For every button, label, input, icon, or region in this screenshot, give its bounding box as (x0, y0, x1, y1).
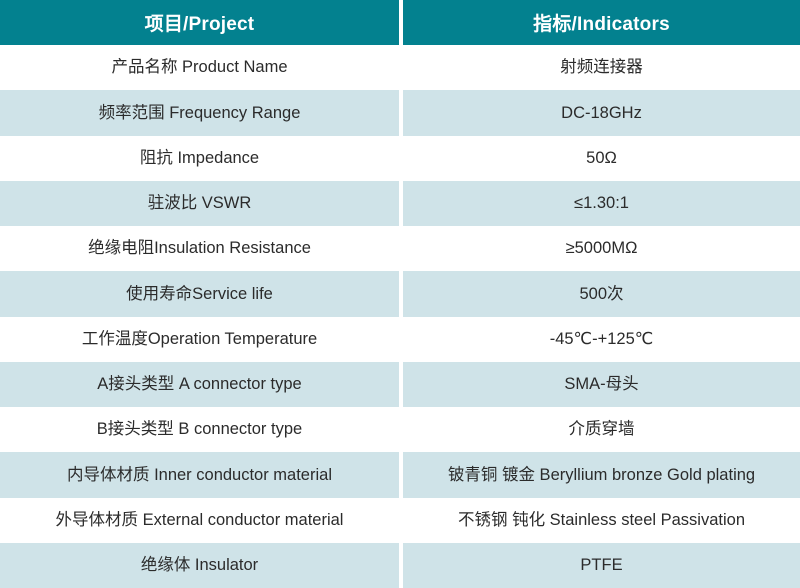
table-row: 工作温度Operation Temperature -45℃-+125℃ (0, 317, 800, 362)
table-row: 内导体材质 Inner conductor material 铍青铜 镀金 Be… (0, 452, 800, 497)
cell-project: 外导体材质 External conductor material (0, 498, 399, 543)
table-row: 外导体材质 External conductor material 不锈钢 钝化… (0, 498, 800, 543)
table-row: 阻抗 Impedance 50Ω (0, 136, 800, 181)
cell-indicator: 铍青铜 镀金 Beryllium bronze Gold plating (403, 452, 800, 497)
cell-project: 使用寿命Service life (0, 271, 399, 316)
cell-indicator: ≤1.30:1 (403, 181, 800, 226)
column-header-project: 项目/Project (0, 0, 399, 45)
table-row: 频率范围 Frequency Range DC-18GHz (0, 90, 800, 135)
cell-project: 阻抗 Impedance (0, 136, 399, 181)
table-body: 产品名称 Product Name 射频连接器 频率范围 Frequency R… (0, 45, 800, 588)
table-row: 绝缘体 Insulator PTFE (0, 543, 800, 588)
cell-project: A接头类型 A connector type (0, 362, 399, 407)
cell-indicator: SMA-母头 (403, 362, 800, 407)
cell-project: 驻波比 VSWR (0, 181, 399, 226)
cell-project: 绝缘体 Insulator (0, 543, 399, 588)
cell-indicator: 射频连接器 (403, 45, 800, 90)
cell-indicator: PTFE (403, 543, 800, 588)
table-header-row: 项目/Project 指标/Indicators (0, 0, 800, 45)
cell-indicator: 50Ω (403, 136, 800, 181)
table-row: 绝缘电阻Insulation Resistance ≥5000MΩ (0, 226, 800, 271)
table-row: 驻波比 VSWR ≤1.30:1 (0, 181, 800, 226)
table-row: A接头类型 A connector type SMA-母头 (0, 362, 800, 407)
cell-project: 工作温度Operation Temperature (0, 317, 399, 362)
cell-project: 频率范围 Frequency Range (0, 90, 399, 135)
cell-project: 绝缘电阻Insulation Resistance (0, 226, 399, 271)
cell-project: 内导体材质 Inner conductor material (0, 452, 399, 497)
table-row: 产品名称 Product Name 射频连接器 (0, 45, 800, 90)
cell-indicator: 500次 (403, 271, 800, 316)
specification-table: 项目/Project 指标/Indicators 产品名称 Product Na… (0, 0, 800, 588)
cell-indicator: 不锈钢 钝化 Stainless steel Passivation (403, 498, 800, 543)
column-header-indicators: 指标/Indicators (403, 0, 800, 45)
cell-project: 产品名称 Product Name (0, 45, 399, 90)
cell-indicator: DC-18GHz (403, 90, 800, 135)
cell-indicator: -45℃-+125℃ (403, 317, 800, 362)
table-row: 使用寿命Service life 500次 (0, 271, 800, 316)
table-row: B接头类型 B connector type 介质穿墙 (0, 407, 800, 452)
cell-indicator: ≥5000MΩ (403, 226, 800, 271)
cell-indicator: 介质穿墙 (403, 407, 800, 452)
cell-project: B接头类型 B connector type (0, 407, 399, 452)
